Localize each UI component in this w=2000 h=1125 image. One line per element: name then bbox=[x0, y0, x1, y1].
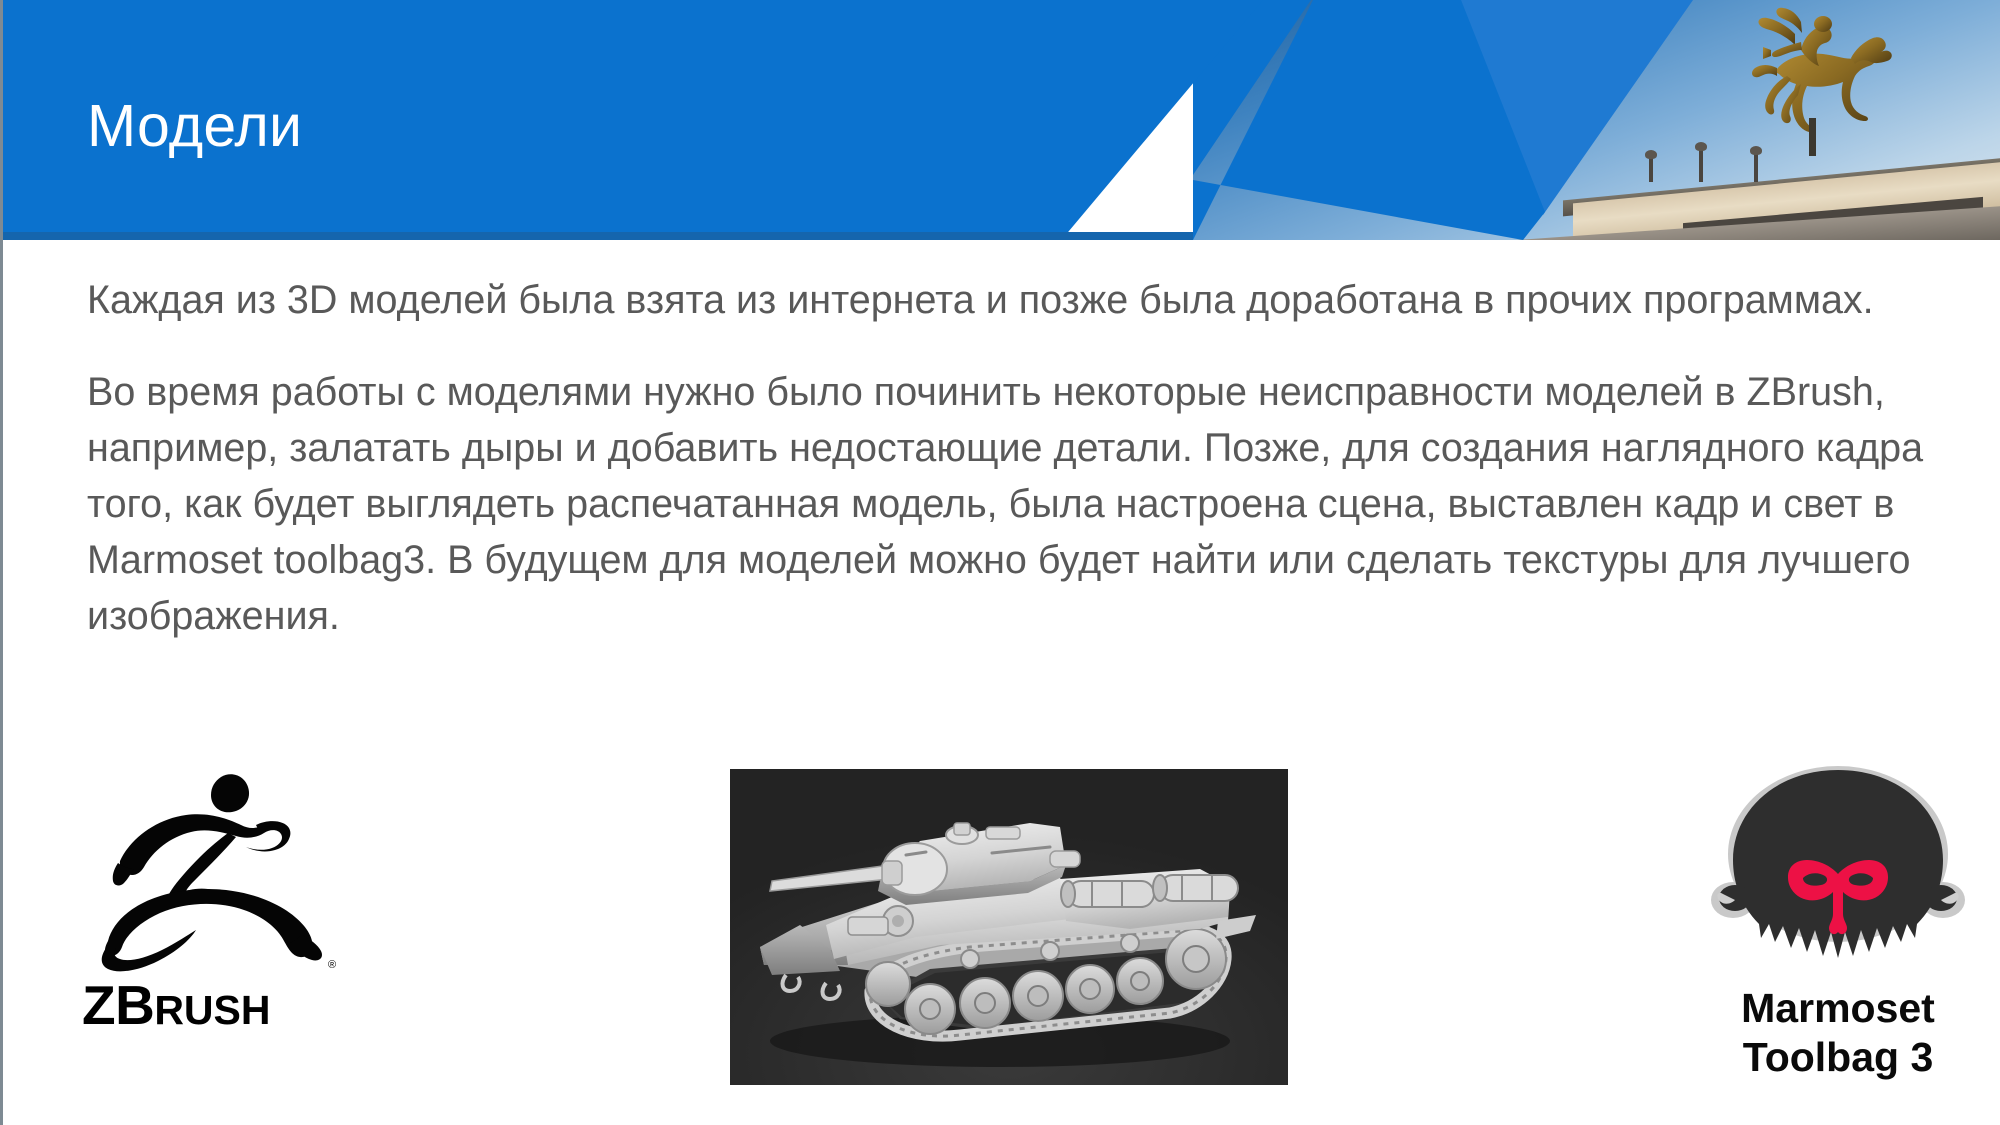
marmoset-toolbag-logo: Marmoset Toolbag 3 bbox=[1693, 762, 1983, 1082]
zbrush-logo: ® ZBRUSH bbox=[78, 765, 348, 1055]
body-copy: Каждая из 3D моделей была взята из интер… bbox=[87, 272, 1927, 680]
zbrush-wordmark: ZBRUSH bbox=[82, 978, 271, 1033]
tank-3d-render bbox=[730, 769, 1288, 1085]
roof-antenna-icon bbox=[1754, 152, 1758, 182]
marmoset-head-icon bbox=[1693, 762, 1983, 990]
slide-header: Модели bbox=[3, 0, 2000, 240]
slide-canvas: Модели Каждая из 3D моделей была взята и… bbox=[0, 0, 2000, 1125]
equestrian-statue-icon bbox=[1683, 6, 1908, 156]
header-underline bbox=[3, 232, 1193, 240]
marmoset-wordmark-line1: Marmoset bbox=[1693, 984, 1983, 1033]
zbrush-wordmark-small: RUSH bbox=[154, 987, 270, 1033]
roof-antenna-icon bbox=[1649, 156, 1653, 182]
marmoset-wordmark: Marmoset Toolbag 3 bbox=[1693, 984, 1983, 1082]
svg-text:®: ® bbox=[328, 959, 336, 971]
page-title: Модели bbox=[87, 96, 302, 158]
marmoset-wordmark-line2: Toolbag 3 bbox=[1693, 1033, 1983, 1082]
paragraph-2: Во время работы с моделями нужно было по… bbox=[87, 364, 1927, 644]
zbrush-figure-icon: ® bbox=[78, 765, 348, 980]
paragraph-1: Каждая из 3D моделей была взята из интер… bbox=[87, 272, 1887, 328]
header-photo bbox=[1193, 0, 2000, 240]
zbrush-wordmark-big: ZB bbox=[82, 974, 154, 1036]
